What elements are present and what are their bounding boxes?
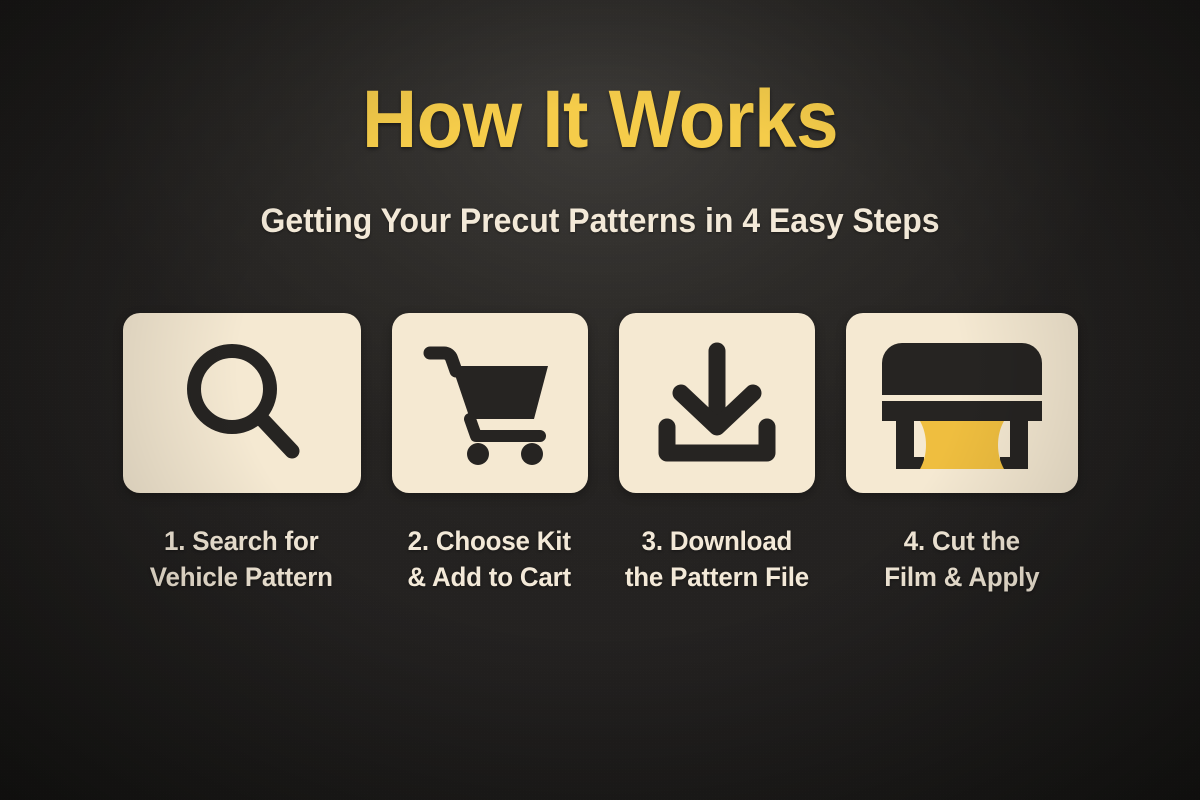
shopping-cart-icon: [422, 339, 558, 467]
magnifier-icon: [176, 337, 308, 469]
steps-row: 1. Search for Vehicle Pattern: [0, 313, 1200, 596]
step-1-caption: 1. Search for Vehicle Pattern: [150, 523, 333, 596]
step-2-icon-card: [392, 313, 588, 493]
infographic-canvas: How It Works Getting Your Precut Pattern…: [0, 0, 1200, 800]
page-subtitle: Getting Your Precut Patterns in 4 Easy S…: [36, 203, 1164, 240]
step-3-icon-card: [619, 313, 815, 493]
step-4-caption: 4. Cut the Film & Apply: [884, 523, 1039, 596]
step-1-icon-card: [123, 313, 361, 493]
step-item-3: 3. Download the Pattern File: [619, 313, 815, 596]
download-icon: [651, 337, 783, 469]
step-item-1: 1. Search for Vehicle Pattern: [123, 313, 361, 596]
step-item-2: 2. Choose Kit & Add to Cart: [392, 313, 588, 596]
step-3-caption: 3. Download the Pattern File: [624, 523, 808, 596]
plotter-cutter-icon: [876, 335, 1048, 471]
infographic-content: How It Works Getting Your Precut Pattern…: [0, 0, 1200, 800]
step-2-caption: 2. Choose Kit & Add to Cart: [408, 523, 572, 596]
page-title: How It Works: [42, 79, 1158, 161]
step-4-icon-card: [846, 313, 1078, 493]
step-item-4: 4. Cut the Film & Apply: [846, 313, 1078, 596]
